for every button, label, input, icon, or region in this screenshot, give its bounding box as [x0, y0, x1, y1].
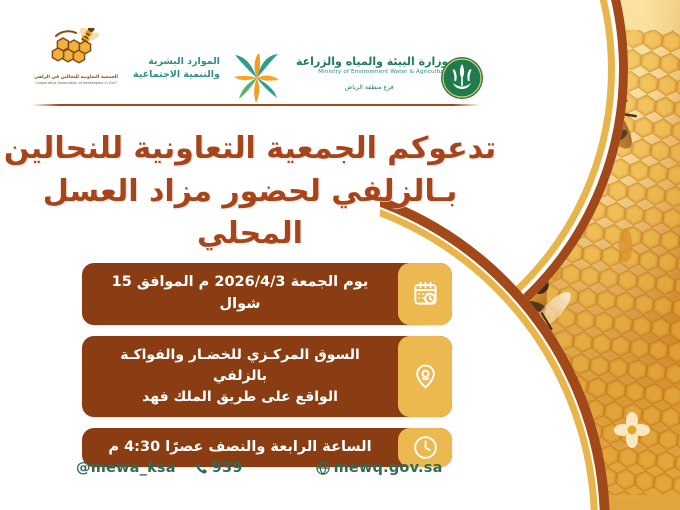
- hrsd-star-icon: [228, 54, 286, 106]
- info-row-location: السوق المركـزي للخضـار والفواكـة بالزلفي…: [82, 336, 452, 417]
- hrsd-logo-line2: والتنمية الاجتماعية: [133, 69, 220, 82]
- globe-icon: [315, 460, 331, 476]
- flower-icon: [614, 412, 650, 448]
- mewa-name-ar: وزارة البيئة والمياه والزراعة: [296, 55, 448, 68]
- map-pin-icon: [398, 336, 452, 417]
- phone-contact[interactable]: 939: [194, 460, 243, 476]
- mewa-logo: وزارة البيئة والمياه والزراعة Ministry o…: [296, 55, 448, 91]
- page-title: تدعوكم الجمعية التعاونية للنحالين بـالزل…: [0, 128, 500, 256]
- website-contact[interactable]: mewq.gov.sa: [315, 460, 443, 476]
- info-row-location-line2: الواقع على طريق الملك فهد: [142, 389, 338, 405]
- coop-logo-name-en: Cooperative Association of beekeepers in…: [26, 81, 126, 85]
- bee-icon: [452, 405, 543, 496]
- title-line-1: تدعوكم الجمعية التعاونية للنحالين: [0, 128, 500, 171]
- social-handle[interactable]: @mewa_ksa: [76, 460, 176, 476]
- mewa-branch-label: فرع منطقة الرياض: [296, 84, 448, 91]
- header-logos: الجمعية التعاونية للنحالين في الزلفي Coo…: [0, 22, 680, 100]
- info-row-date: يوم الجمعة 2026/4/3 م الموافق 15 شوال: [82, 263, 452, 325]
- info-rows: يوم الجمعة 2026/4/3 م الموافق 15 شوال ال…: [82, 263, 452, 478]
- footer-contacts: @mewa_ksa 939 mewq.gov.sa: [76, 460, 406, 476]
- coop-association-logo: الجمعية التعاونية للنحالين في الزلفي Coo…: [26, 28, 126, 86]
- bee-honeycomb-icon: [48, 28, 104, 68]
- saudi-emblem-icon: [440, 56, 484, 100]
- phone-number: 939: [212, 460, 243, 476]
- mewa-name-en: Ministry of Environment Water & Agricult…: [296, 68, 448, 76]
- hrsd-logo-line1: الموارد البشرية: [133, 56, 220, 69]
- header-divider: [32, 104, 480, 106]
- info-row-date-text: يوم الجمعة 2026/4/3 م الموافق 15 شوال: [82, 263, 398, 325]
- website-url: mewq.gov.sa: [334, 460, 443, 476]
- calendar-clock-icon: [398, 263, 452, 325]
- info-row-location-line1: السوق المركـزي للخضـار والفواكـة بالزلفي: [120, 347, 360, 384]
- title-line-2: بـالزلفي لحضور مزاد العسل المحلي: [0, 171, 500, 256]
- poster-canvas: الجمعية التعاونية للنحالين في الزلفي Coo…: [0, 0, 680, 510]
- phone-icon: [194, 461, 209, 476]
- info-row-location-text: السوق المركـزي للخضـار والفواكـة بالزلفي…: [82, 336, 398, 417]
- hrsd-logo: الموارد البشرية والتنمية الاجتماعية: [133, 56, 220, 82]
- bee-icon: [486, 267, 580, 362]
